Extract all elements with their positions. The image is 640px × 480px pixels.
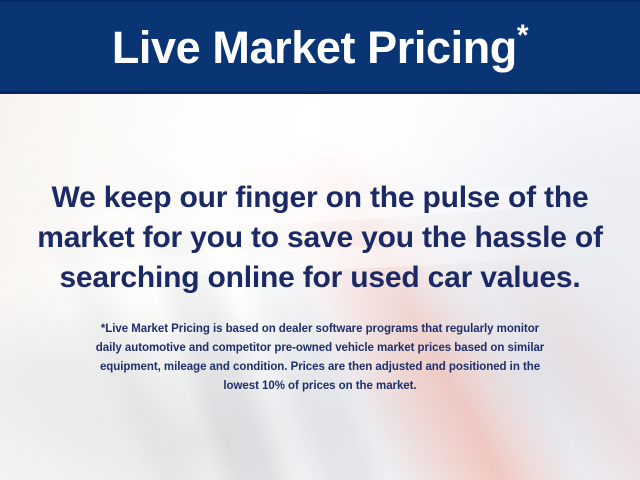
disclaimer-line-1: *Live Market Pricing is based on dealer … [22, 320, 618, 339]
headline-line-2: market for you to save you the hassle of [24, 218, 616, 258]
page-title: Live Market Pricing* [112, 25, 528, 70]
title-band: Live Market Pricing* [0, 0, 640, 94]
title-asterisk: * [517, 19, 528, 52]
disclaimer: *Live Market Pricing is based on dealer … [22, 320, 618, 396]
disclaimer-line-4: lowest 10% of prices on the market. [22, 377, 618, 396]
disclaimer-line-2: daily automotive and competitor pre-owne… [22, 339, 618, 358]
page-title-text: Live Market Pricing [112, 22, 517, 73]
banner-content: We keep our finger on the pulse of the m… [0, 94, 640, 480]
headline-line-1: We keep our finger on the pulse of the [24, 178, 616, 218]
disclaimer-line-3: equipment, mileage and condition. Prices… [22, 358, 618, 377]
headline: We keep our finger on the pulse of the m… [24, 178, 616, 298]
live-market-pricing-banner: Live Market Pricing* We keep our finger … [0, 0, 640, 480]
headline-line-3: searching online for used car values. [24, 258, 616, 298]
